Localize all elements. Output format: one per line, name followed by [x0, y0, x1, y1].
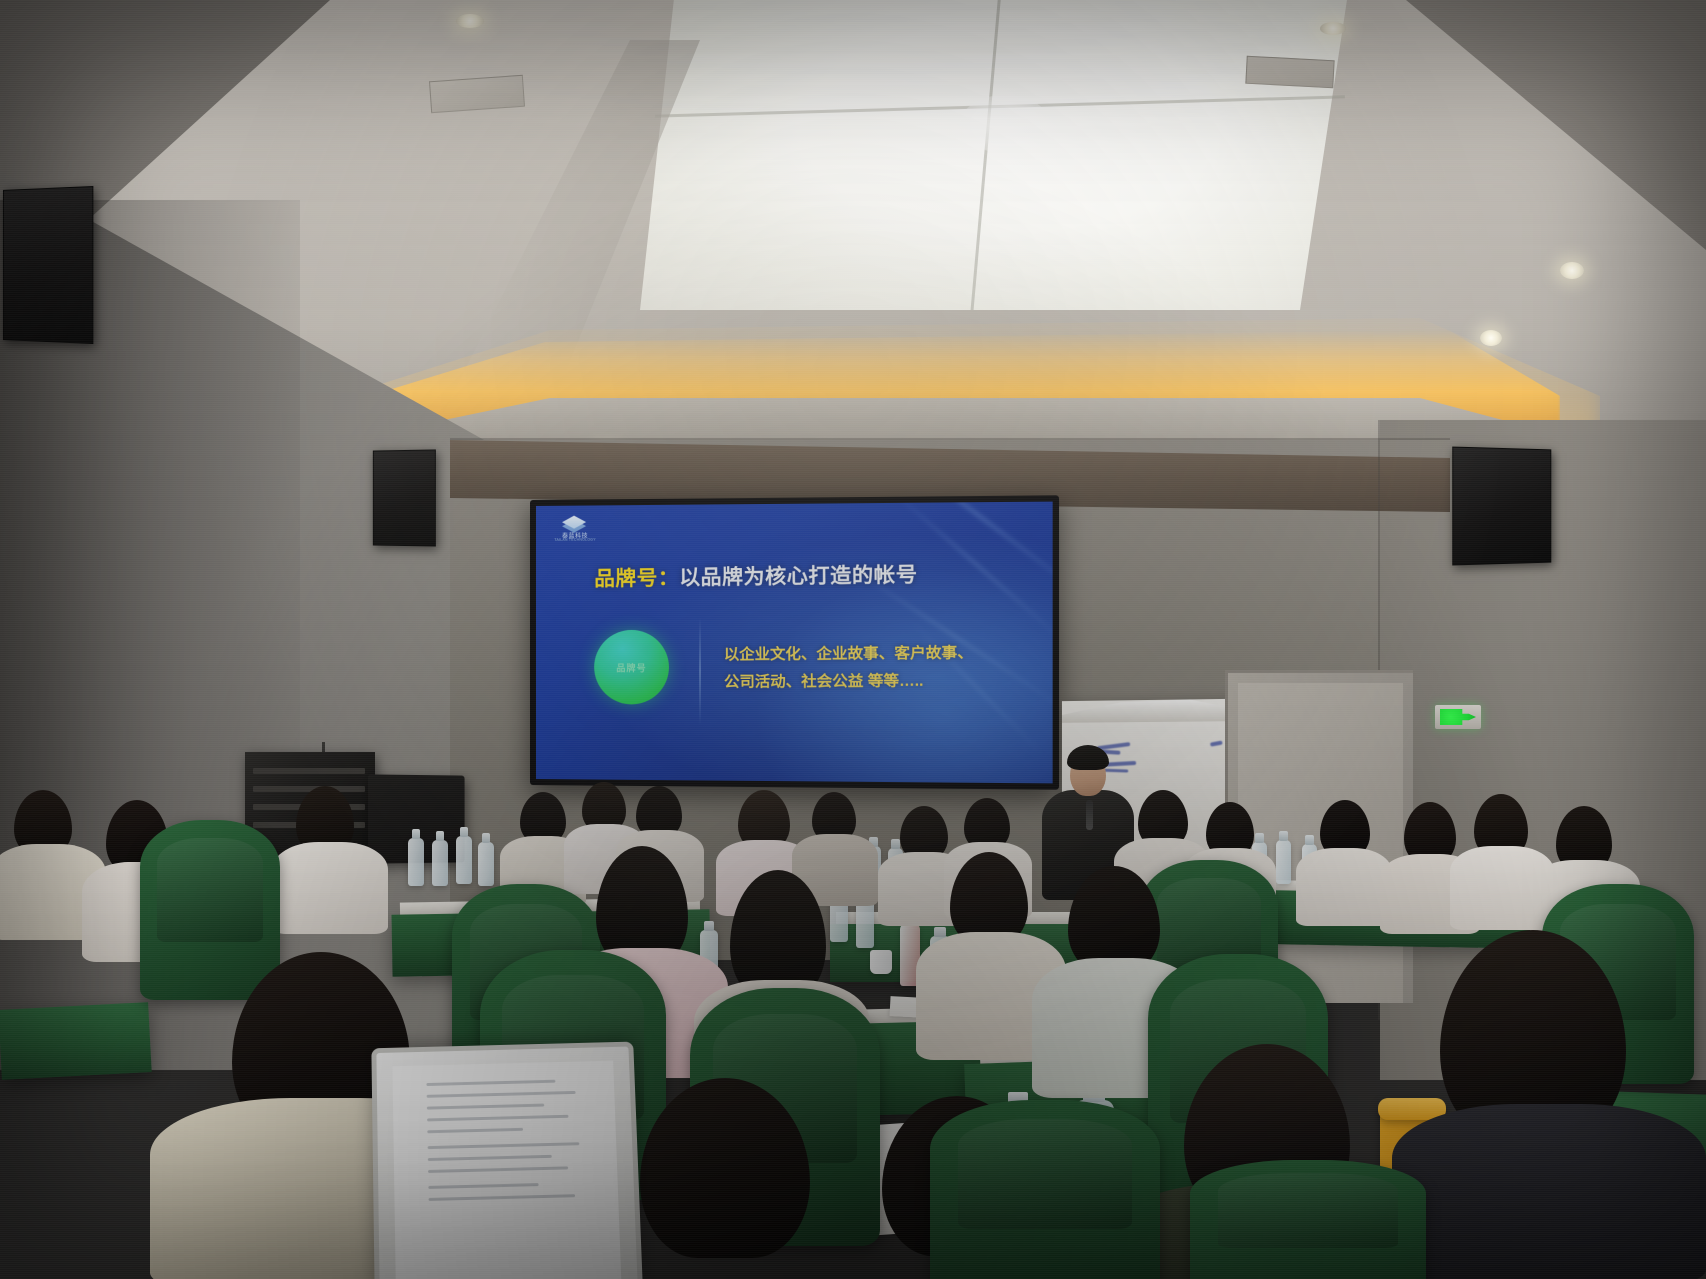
slide-divider	[700, 618, 701, 725]
table-left-edge	[0, 1002, 152, 1080]
wall-seam	[450, 438, 1450, 440]
slide-body-line-1: 以企业文化、企业故事、客户故事、	[724, 638, 1053, 668]
water-bottle	[1276, 840, 1291, 884]
bottle-cap	[1255, 833, 1263, 843]
handheld-microphone	[1086, 800, 1093, 830]
exit-sign: EXIT	[1435, 705, 1481, 729]
flipchart-note: handwritten blue marker notes	[1062, 701, 1063, 702]
slide-badge-label: 品牌号	[616, 661, 646, 674]
skylight-hotspot	[960, 95, 1050, 153]
bottle-cap	[460, 827, 469, 837]
rack-slot	[253, 768, 365, 774]
slide-title-highlight: 品牌号：	[594, 566, 679, 590]
water-bottle	[478, 842, 494, 886]
slide-body-line-2: 公司活动、社会公益 等等…..	[724, 666, 1053, 696]
chair	[140, 820, 280, 1000]
bottle-cap	[482, 833, 491, 843]
ceiling-downlight	[1480, 330, 1502, 346]
ceiling-downlight	[1320, 22, 1346, 35]
bottle-cap	[436, 831, 445, 841]
bottle-cap	[1305, 835, 1313, 845]
paper-cup	[870, 950, 892, 974]
presentation-screen[interactable]: 泰蓝科技 TAILAN TECHNOLOGY 品牌号：以品牌为核心打造的帐号 品…	[530, 495, 1059, 789]
bottle-cap	[1279, 831, 1287, 841]
ceiling-vent	[1245, 56, 1334, 89]
slide-body: 以企业文化、企业故事、客户故事、 公司活动、社会公益 等等…..	[724, 638, 1053, 696]
water-bottle	[432, 840, 448, 886]
bottle-cap	[934, 927, 945, 937]
water-bottle	[456, 836, 472, 884]
laptop[interactable]: open laptop with document	[371, 1042, 642, 1279]
flipchart-scribble	[1210, 741, 1223, 747]
photo-scene: 泰蓝科技 TAILAN TECHNOLOGY 品牌号：以品牌为核心打造的帐号 品…	[0, 0, 1706, 1279]
bottle-cap	[891, 839, 899, 849]
slide-title: 品牌号：以品牌为核心打造的帐号	[594, 555, 1039, 591]
bottle-cap	[704, 921, 714, 931]
wall-speaker-left-2	[373, 449, 436, 546]
slide-canvas: 泰蓝科技 TAILAN TECHNOLOGY 品牌号：以品牌为核心打造的帐号 品…	[536, 502, 1053, 784]
flipchart-page-curl	[1062, 699, 1236, 723]
slide-title-rest: 以品牌为核心打造的帐号	[679, 563, 918, 589]
ceiling-downlight	[456, 14, 484, 28]
ceiling-downlight	[1560, 262, 1584, 279]
ceiling-vent	[429, 75, 525, 113]
water-bottle	[408, 838, 424, 886]
slide-brand-logo: 泰蓝科技 TAILAN TECHNOLOGY	[554, 515, 596, 543]
bottle-cap	[412, 829, 421, 839]
slide-badge-circle: 品牌号	[594, 630, 669, 705]
chair	[930, 1100, 1160, 1279]
slide-logo-english: TAILAN TECHNOLOGY	[554, 538, 596, 542]
laptop-document: open laptop with document	[392, 1061, 621, 1279]
chair	[1190, 1160, 1426, 1279]
running-man-exit-icon	[1440, 709, 1476, 725]
wall-speaker-right	[1452, 447, 1551, 566]
wall-speaker-left	[3, 186, 93, 344]
laptop-label: open laptop with document	[392, 1066, 393, 1067]
